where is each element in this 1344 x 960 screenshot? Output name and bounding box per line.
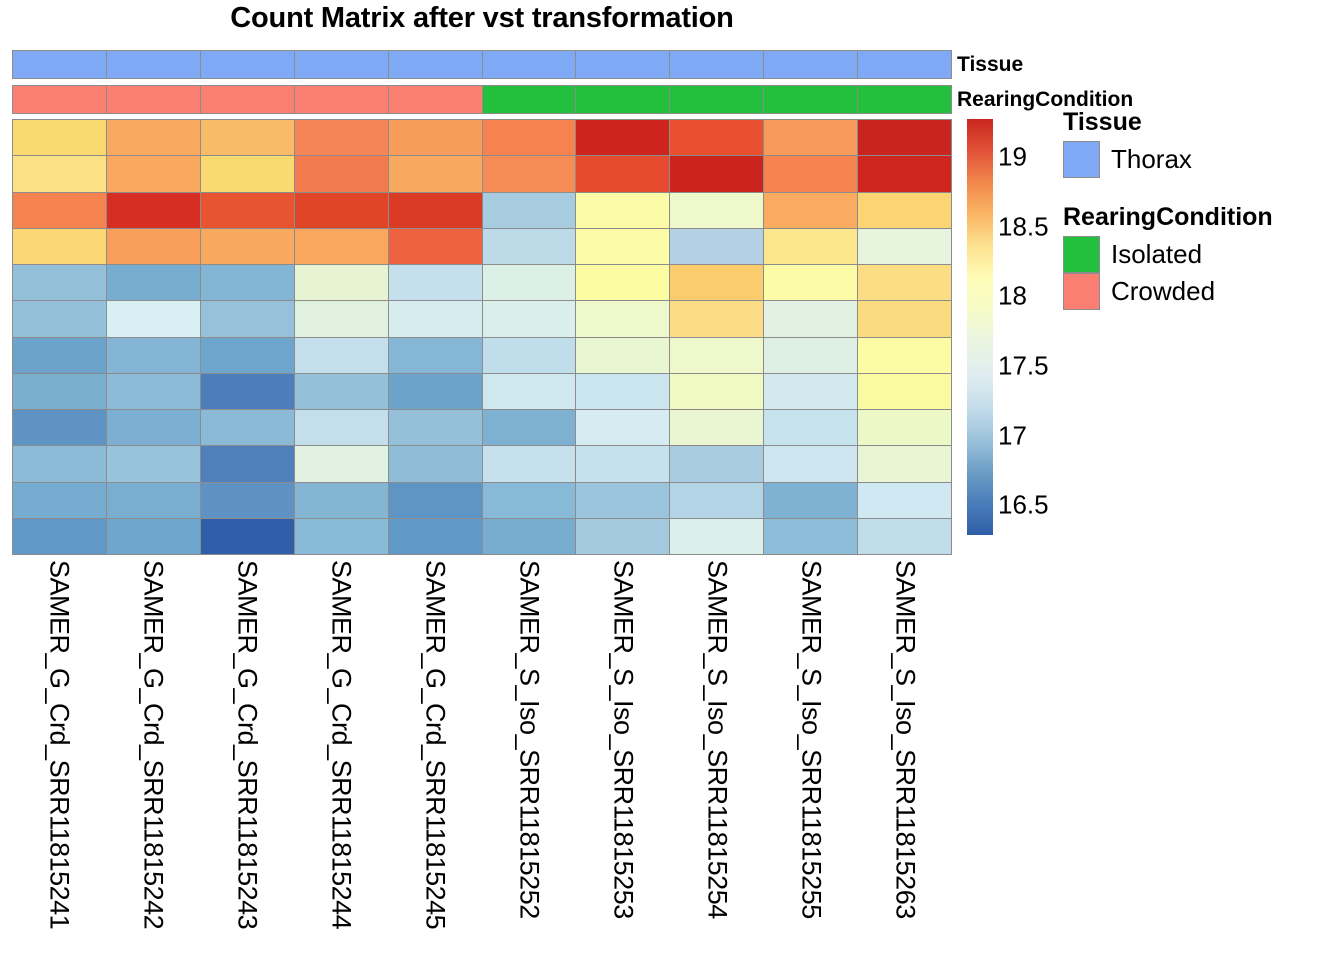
heatmap-cell (764, 374, 858, 409)
legend-item: Isolated (1063, 236, 1273, 273)
heatmap-cell (764, 483, 858, 518)
heatmap-cell (201, 446, 295, 481)
column-label: SAMER_S_Iso_SRR11815255 (796, 560, 827, 919)
annotation-cell (483, 51, 577, 78)
heatmap-cell (483, 338, 577, 373)
column-label: SAMER_G_Crd_SRR11815245 (420, 560, 451, 929)
annotation-cell (295, 86, 389, 113)
heatmap-cell (13, 156, 107, 191)
annotation-cell (295, 51, 389, 78)
heatmap-cell (107, 156, 201, 191)
legend-tissue: Tissue Thorax (1063, 108, 1192, 178)
heatmap-cell (764, 265, 858, 300)
heatmap-cell (295, 229, 389, 264)
heatmap-cell (576, 374, 670, 409)
heatmap-cell (858, 301, 951, 336)
heatmap-cell (858, 446, 951, 481)
heatmap-cell (764, 193, 858, 228)
heatmap-cell (764, 156, 858, 191)
heatmap-cell (483, 156, 577, 191)
heatmap-cell (13, 229, 107, 264)
page-title: Count Matrix after vst transformation (12, 2, 952, 35)
heatmap-cell (107, 229, 201, 264)
heatmap-cell (483, 483, 577, 518)
heatmap-cell (483, 301, 577, 336)
heatmap-cell (201, 483, 295, 518)
annotation-track-rearingcondition (12, 85, 952, 114)
heatmap-cell (295, 519, 389, 554)
heatmap-cell (576, 483, 670, 518)
heatmap-cell (858, 374, 951, 409)
heatmap-cell (389, 483, 483, 518)
heatmap-cell (201, 193, 295, 228)
annotation-cell (389, 86, 483, 113)
heatmap-cell (295, 446, 389, 481)
annotation-cell (13, 51, 107, 78)
annotation-cell (389, 51, 483, 78)
heatmap-cell (764, 519, 858, 554)
annotation-cell (201, 51, 295, 78)
column-label-slot: SAMER_G_Crd_SRR11815244 (294, 560, 388, 955)
heatmap-cell (389, 338, 483, 373)
colorbar-ticks: 1918.51817.51716.5 (998, 118, 1068, 536)
annotation-cell (670, 51, 764, 78)
heatmap-cell (295, 374, 389, 409)
heatmap-cell (670, 265, 764, 300)
legend-label-isolated: Isolated (1111, 239, 1202, 270)
heatmap-cell (576, 156, 670, 191)
column-label-slot: SAMER_G_Crd_SRR11815241 (12, 560, 106, 955)
colorbar-tick-label: 19 (998, 142, 1027, 173)
heatmap-cell (576, 410, 670, 445)
legend-swatch-crowded (1063, 273, 1100, 310)
heatmap-cell (107, 301, 201, 336)
annotation-cell (13, 86, 107, 113)
heatmap-cell (389, 446, 483, 481)
column-label-slot: SAMER_S_Iso_SRR11815253 (576, 560, 670, 955)
legend-label-thorax: Thorax (1111, 144, 1192, 175)
heatmap-cell (764, 446, 858, 481)
heatmap-cell (858, 338, 951, 373)
legend-label-crowded: Crowded (1111, 276, 1215, 307)
heatmap-row (13, 410, 951, 446)
heatmap-cell (13, 301, 107, 336)
heatmap-cell (295, 301, 389, 336)
legend-swatch-thorax (1063, 141, 1100, 178)
heatmap-cell (107, 374, 201, 409)
heatmap-cell (670, 338, 764, 373)
heatmap-cell (389, 301, 483, 336)
annotation-cell (670, 86, 764, 113)
heatmap-cell (13, 265, 107, 300)
heatmap-cell (389, 410, 483, 445)
heatmap-row (13, 519, 951, 554)
column-label-slot: SAMER_S_Iso_SRR11815254 (670, 560, 764, 955)
annotation-cell (201, 86, 295, 113)
colorbar-tick-label: 17 (998, 420, 1027, 451)
column-label-slot: SAMER_S_Iso_SRR11815255 (764, 560, 858, 955)
heatmap-cell (295, 265, 389, 300)
heatmap-cell (670, 519, 764, 554)
heatmap-cell (576, 265, 670, 300)
heatmap-row (13, 156, 951, 192)
heatmap-row (13, 193, 951, 229)
heatmap-cell (858, 483, 951, 518)
heatmap-cell (13, 120, 107, 155)
column-labels: SAMER_G_Crd_SRR11815241SAMER_G_Crd_SRR11… (12, 560, 952, 955)
heatmap-cell (576, 193, 670, 228)
column-label-slot: SAMER_S_Iso_SRR11815263 (858, 560, 952, 955)
heatmap-cell (389, 156, 483, 191)
heatmap-cell (670, 483, 764, 518)
colorbar (966, 118, 994, 536)
heatmap-row (13, 338, 951, 374)
heatmap-cell (764, 120, 858, 155)
column-label-slot: SAMER_S_Iso_SRR11815252 (482, 560, 576, 955)
heatmap-cell (670, 374, 764, 409)
heatmap-cell (483, 410, 577, 445)
heatmap-cell (295, 483, 389, 518)
legend-item: Thorax (1063, 141, 1192, 178)
annotation-cell (107, 86, 201, 113)
heatmap-row (13, 446, 951, 482)
heatmap-cell (13, 338, 107, 373)
heatmap-cell (389, 374, 483, 409)
heatmap-row (13, 301, 951, 337)
column-label-slot: SAMER_G_Crd_SRR11815245 (388, 560, 482, 955)
colorbar-tick-label: 17.5 (998, 351, 1049, 382)
column-label: SAMER_G_Crd_SRR11815241 (44, 560, 75, 929)
legend-title-rearingcondition: RearingCondition (1063, 203, 1273, 232)
heatmap-cell (576, 301, 670, 336)
heatmap-cell (670, 120, 764, 155)
heatmap-cell (13, 410, 107, 445)
annotation-track-label-tissue: Tissue (957, 53, 1023, 77)
heatmap-grid (12, 119, 952, 555)
heatmap-cell (858, 519, 951, 554)
heatmap-cell (389, 193, 483, 228)
heatmap-cell (764, 301, 858, 336)
heatmap-cell (389, 519, 483, 554)
heatmap-cell (483, 374, 577, 409)
heatmap-cell (576, 338, 670, 373)
column-label: SAMER_S_Iso_SRR11815263 (890, 560, 921, 919)
heatmap-cell (389, 120, 483, 155)
annotation-cell (858, 86, 951, 113)
heatmap-cell (858, 193, 951, 228)
heatmap-row (13, 229, 951, 265)
heatmap-cell (764, 410, 858, 445)
heatmap-cell (576, 229, 670, 264)
heatmap-cell (389, 265, 483, 300)
column-label: SAMER_G_Crd_SRR11815242 (138, 560, 169, 929)
heatmap-cell (201, 120, 295, 155)
heatmap-cell (858, 156, 951, 191)
heatmap-cell (107, 120, 201, 155)
heatmap-cell (107, 483, 201, 518)
heatmap-row (13, 265, 951, 301)
heatmap-cell (483, 519, 577, 554)
heatmap-cell (13, 374, 107, 409)
heatmap-cell (201, 301, 295, 336)
column-label-slot: SAMER_G_Crd_SRR11815242 (106, 560, 200, 955)
annotation-cell (858, 51, 951, 78)
legend-rearingcondition: RearingCondition Isolated Crowded (1063, 203, 1273, 310)
heatmap-cell (295, 338, 389, 373)
annotation-cell (576, 86, 670, 113)
annotation-cell (764, 86, 858, 113)
heatmap-cell (764, 338, 858, 373)
heatmap-cell (295, 193, 389, 228)
heatmap-cell (576, 446, 670, 481)
heatmap-cell (201, 156, 295, 191)
heatmap-cell (483, 120, 577, 155)
heatmap-cell (389, 229, 483, 264)
column-label-slot: SAMER_G_Crd_SRR11815243 (200, 560, 294, 955)
heatmap-cell (858, 265, 951, 300)
heatmap-cell (858, 410, 951, 445)
colorbar-tick-label: 16.5 (998, 490, 1049, 521)
heatmap-cell (483, 446, 577, 481)
column-label: SAMER_G_Crd_SRR11815244 (326, 560, 357, 929)
heatmap-cell (201, 410, 295, 445)
colorbar-tick-label: 18 (998, 281, 1027, 312)
heatmap-row (13, 483, 951, 519)
heatmap-cell (107, 265, 201, 300)
colorbar-tick-label: 18.5 (998, 211, 1049, 242)
heatmap-cell (670, 301, 764, 336)
heatmap-cell (107, 410, 201, 445)
column-label: SAMER_G_Crd_SRR11815243 (232, 560, 263, 929)
heatmap-cell (13, 519, 107, 554)
heatmap-cell (107, 193, 201, 228)
heatmap-cell (13, 446, 107, 481)
heatmap-figure: Count Matrix after vst transformation Ti… (0, 0, 1344, 960)
heatmap-cell (670, 193, 764, 228)
heatmap-cell (13, 483, 107, 518)
legend-item: Crowded (1063, 273, 1273, 310)
heatmap-cell (201, 229, 295, 264)
heatmap-cell (295, 410, 389, 445)
column-label: SAMER_S_Iso_SRR11815252 (514, 560, 545, 919)
column-label: SAMER_S_Iso_SRR11815253 (608, 560, 639, 919)
annotation-cell (483, 86, 577, 113)
heatmap-cell (13, 193, 107, 228)
heatmap-cell (858, 120, 951, 155)
heatmap-row (13, 374, 951, 410)
annotation-cell (576, 51, 670, 78)
heatmap-cell (670, 446, 764, 481)
annotation-cell (107, 51, 201, 78)
heatmap-cell (201, 265, 295, 300)
heatmap-cell (201, 338, 295, 373)
heatmap-cell (764, 229, 858, 264)
heatmap-cell (107, 519, 201, 554)
heatmap-cell (670, 156, 764, 191)
annotation-track-tissue (12, 50, 952, 79)
legend-swatch-isolated (1063, 236, 1100, 273)
column-label: SAMER_S_Iso_SRR11815254 (702, 560, 733, 919)
heatmap-cell (483, 193, 577, 228)
heatmap-cell (483, 229, 577, 264)
annotation-cell (764, 51, 858, 78)
heatmap-row (13, 120, 951, 156)
heatmap-cell (107, 446, 201, 481)
heatmap-cell (483, 265, 577, 300)
heatmap-cell (670, 229, 764, 264)
heatmap-cell (201, 374, 295, 409)
legend-title-tissue: Tissue (1063, 108, 1192, 137)
heatmap-cell (295, 156, 389, 191)
heatmap-cell (295, 120, 389, 155)
heatmap-cell (670, 410, 764, 445)
heatmap-cell (576, 519, 670, 554)
heatmap-cell (858, 229, 951, 264)
heatmap-cell (576, 120, 670, 155)
heatmap-cell (107, 338, 201, 373)
heatmap-cell (201, 519, 295, 554)
